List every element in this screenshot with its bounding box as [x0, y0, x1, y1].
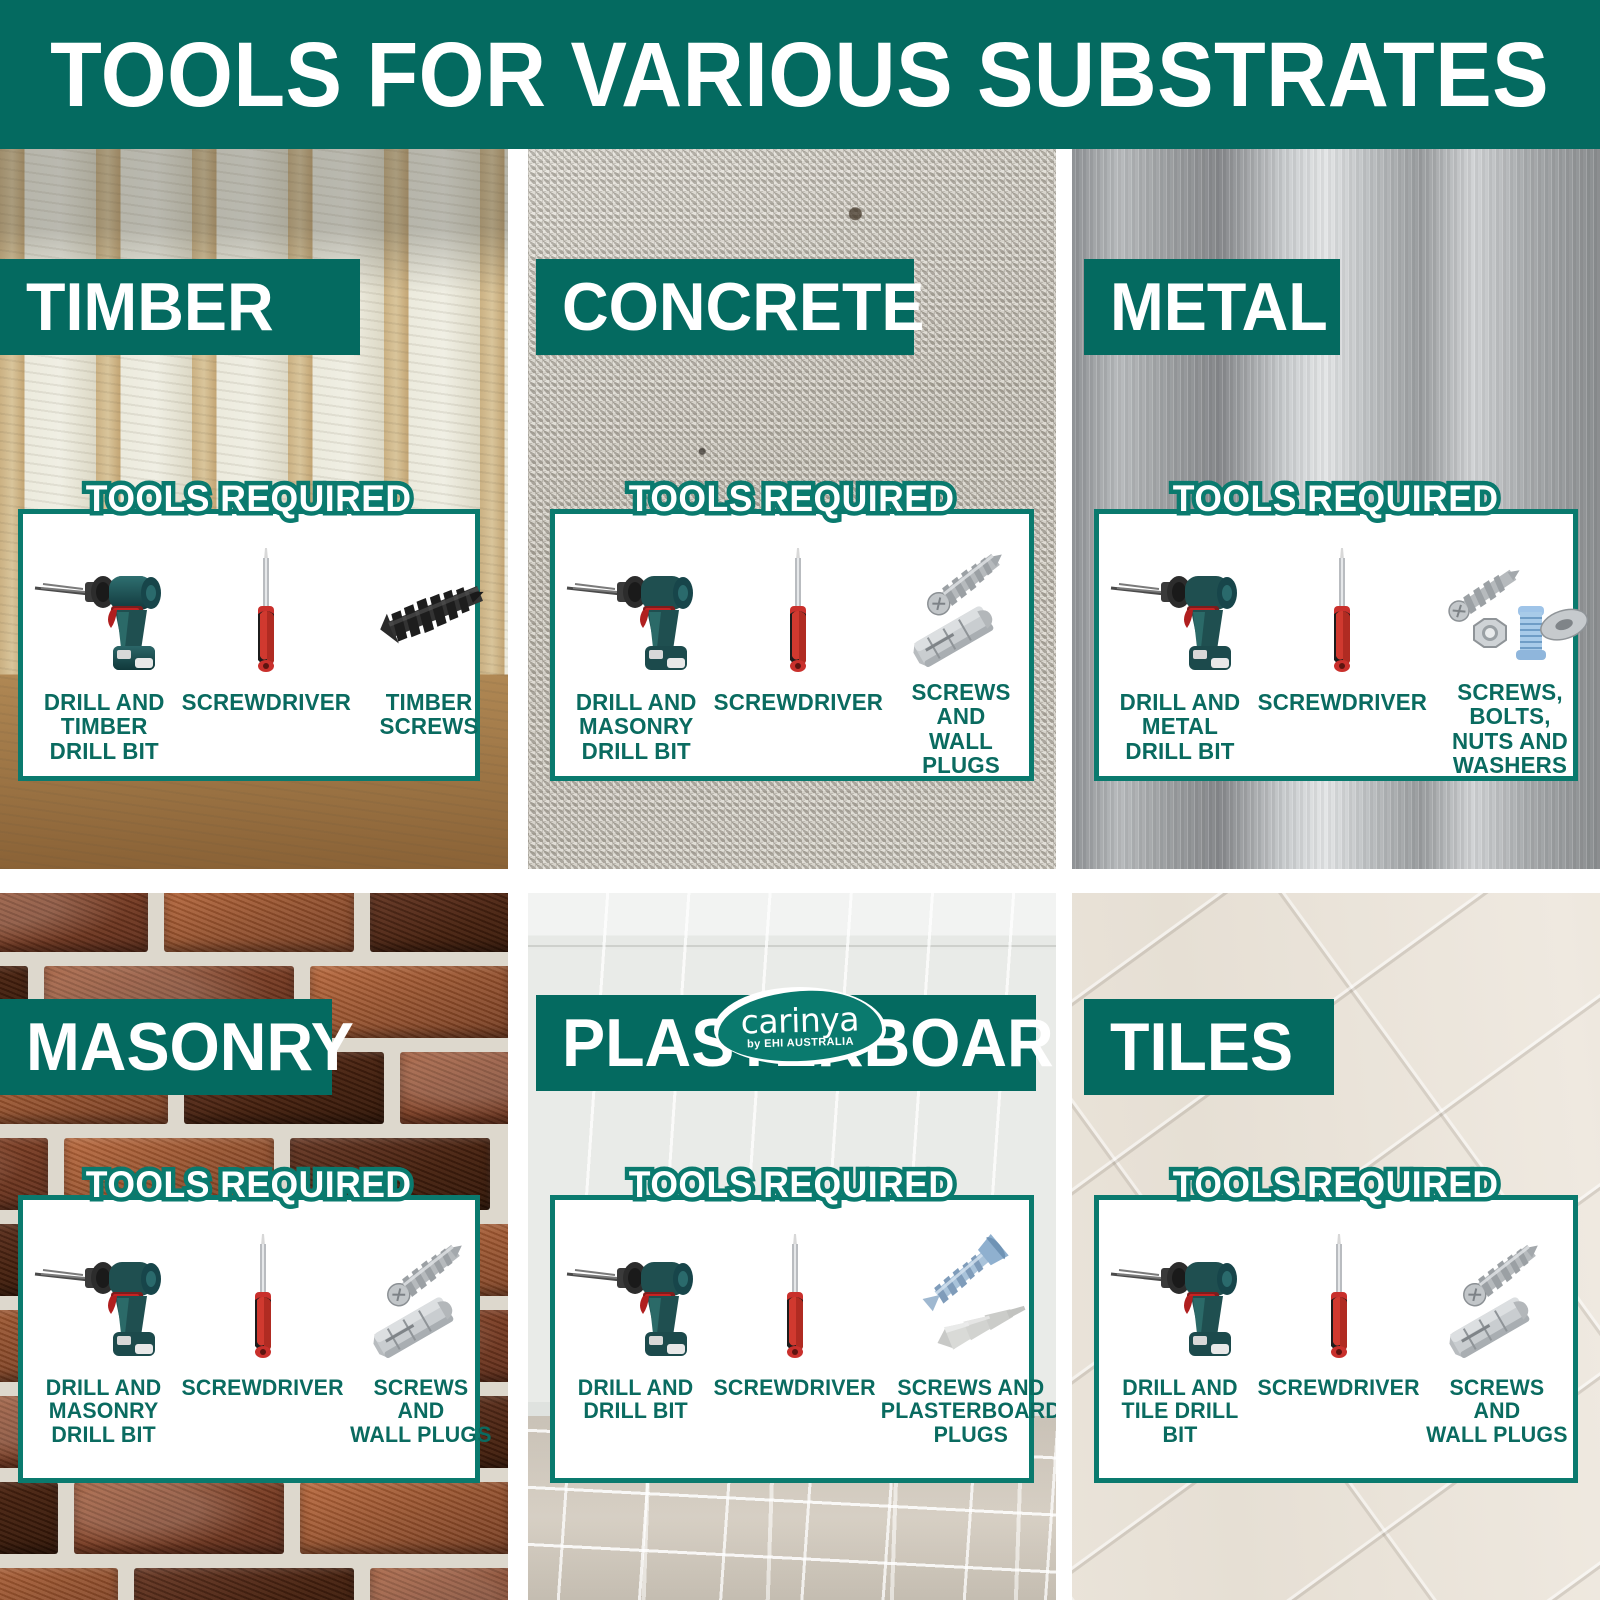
screw-and-wall-plug-icon — [886, 544, 1036, 674]
tool-label: DRILL AND DRILL BIT — [578, 1376, 694, 1423]
page-title: TOOLS FOR VARIOUS SUBSTRATES — [51, 29, 1550, 121]
screwdriver-icon — [711, 544, 886, 684]
panel-masonry[interactable]: MASONRY TOOLS REQUIRED — [0, 893, 508, 1600]
screwdriver-icon — [1255, 544, 1430, 684]
bolt-nut-washer-icon — [1430, 544, 1590, 674]
tools-card-concrete: TOOLS REQUIRED — [550, 509, 1034, 781]
tool-item[interactable]: SCREWS AND WALL PLUGS — [886, 544, 1036, 770]
tool-item[interactable]: SCREWDRIVER — [1255, 544, 1430, 770]
screw-and-wall-plug-icon — [346, 1230, 496, 1370]
cordless-drill-icon — [29, 1230, 179, 1370]
tool-item[interactable]: DRILL AND MASONRY DRILL BIT — [561, 544, 711, 770]
tool-label: SCREWS AND PLASTERBOARD PLUGS — [881, 1376, 1056, 1446]
tool-item[interactable]: DRILL AND MASONRY DRILL BIT — [29, 1230, 179, 1472]
tool-item[interactable]: SCREWDRIVER — [1255, 1230, 1422, 1472]
tool-item[interactable]: DRILL AND METAL DRILL BIT — [1105, 544, 1255, 770]
tool-item[interactable]: SCREWS AND PLASTERBOARD PLUGS — [878, 1230, 1056, 1472]
screw-and-wall-plug-icon — [1422, 1230, 1572, 1370]
tool-label: SCREWS AND WALL PLUGS — [350, 1376, 491, 1446]
tool-item[interactable]: DRILL AND DRILL BIT — [561, 1230, 711, 1472]
tool-label: SCREWDRIVER — [714, 690, 883, 714]
substrate-label-concrete: CONCRETE — [536, 259, 914, 355]
tool-item[interactable]: SCREWDRIVER — [711, 1230, 878, 1472]
substrate-label-masonry: MASONRY — [0, 999, 332, 1095]
tool-label: DRILL AND MASONRY DRILL BIT — [46, 1376, 162, 1446]
tool-label: SCREWDRIVER — [1258, 690, 1427, 714]
panel-tiles[interactable]: TILES TOOLS REQUIRED — [1072, 893, 1600, 1600]
panel-concrete[interactable]: CONCRETE TOOLS REQUIRED — [528, 149, 1056, 869]
brand-tagline: by EHI AUSTRALIA — [747, 1036, 854, 1051]
tool-item[interactable]: SCREWDRIVER — [711, 544, 886, 770]
tool-item[interactable]: SCREWDRIVER — [179, 1230, 346, 1472]
tool-label: TIMBER SCREWS — [379, 690, 478, 739]
screwdriver-icon — [179, 1230, 346, 1370]
tool-item[interactable]: SCREWS AND WALL PLUGS — [1422, 1230, 1572, 1472]
substrate-label-timber: TIMBER — [0, 259, 360, 355]
tool-label: SCREWDRIVER — [714, 1376, 876, 1399]
tools-card-plasterboard: TOOLS REQUIRED — [550, 1195, 1034, 1483]
tools-card-tiles: TOOLS REQUIRED — [1094, 1195, 1578, 1483]
panel-timber[interactable]: TIMBER TOOLS REQUIRED — [0, 149, 508, 869]
tool-label: SCREWS, BOLTS, NUTS AND WASHERS — [1432, 680, 1587, 778]
cordless-drill-icon — [29, 544, 179, 684]
tool-item[interactable]: SCREWS, BOLTS, NUTS AND WASHERS — [1430, 544, 1590, 770]
substrate-grid: TIMBER TOOLS REQUIRED — [0, 149, 1600, 1600]
tool-item[interactable]: SCREWS AND WALL PLUGS — [346, 1230, 496, 1472]
tool-item[interactable]: SCREWDRIVER — [179, 544, 354, 770]
tool-label: SCREWS AND WALL PLUGS — [888, 680, 1034, 778]
carinya-logo[interactable]: carinya by EHI AUSTRALIA — [714, 987, 886, 1065]
tool-label: DRILL AND MASONRY DRILL BIT — [576, 690, 697, 763]
cordless-drill-icon — [1105, 544, 1255, 684]
tool-label: DRILL AND METAL DRILL BIT — [1107, 690, 1253, 763]
tool-label: SCREWS AND WALL PLUGS — [1426, 1376, 1567, 1446]
panel-metal[interactable]: METAL TOOLS REQUIRED — [1072, 149, 1600, 869]
tool-item[interactable]: TIMBER SCREWS — [354, 544, 504, 770]
timber-screw-icon — [354, 544, 504, 684]
screw-and-plasterboard-plug-icon — [878, 1230, 1056, 1370]
substrate-label-metal: METAL — [1084, 259, 1340, 355]
tool-label: SCREWDRIVER — [182, 690, 351, 714]
tool-label: SCREWDRIVER — [182, 1376, 344, 1399]
infographic-poster: TOOLS FOR VARIOUS SUBSTRATES TIMBER TOOL… — [0, 0, 1600, 1600]
brand-name: carinya — [740, 1003, 859, 1037]
tools-card-metal: TOOLS REQUIRED — [1094, 509, 1578, 781]
tools-card-masonry: TOOLS REQUIRED — [18, 1195, 480, 1483]
screwdriver-icon — [711, 1230, 878, 1370]
tool-item[interactable]: DRILL AND TIMBER DRILL BIT — [29, 544, 179, 770]
tool-label: SCREWDRIVER — [1258, 1376, 1420, 1399]
poster-header: TOOLS FOR VARIOUS SUBSTRATES — [0, 0, 1600, 149]
screwdriver-icon — [1255, 1230, 1422, 1370]
screwdriver-icon — [179, 544, 354, 684]
tool-label: DRILL AND TIMBER DRILL BIT — [44, 690, 165, 763]
tools-card-timber: TOOLS REQUIRED — [18, 509, 480, 781]
cordless-drill-icon — [561, 544, 711, 684]
tool-item[interactable]: DRILL AND TILE DRILL BIT — [1105, 1230, 1255, 1472]
cordless-drill-icon — [1105, 1230, 1255, 1370]
tool-label: DRILL AND TILE DRILL BIT — [1107, 1376, 1253, 1446]
cordless-drill-icon — [561, 1230, 711, 1370]
substrate-label-tiles: TILES — [1084, 999, 1334, 1095]
